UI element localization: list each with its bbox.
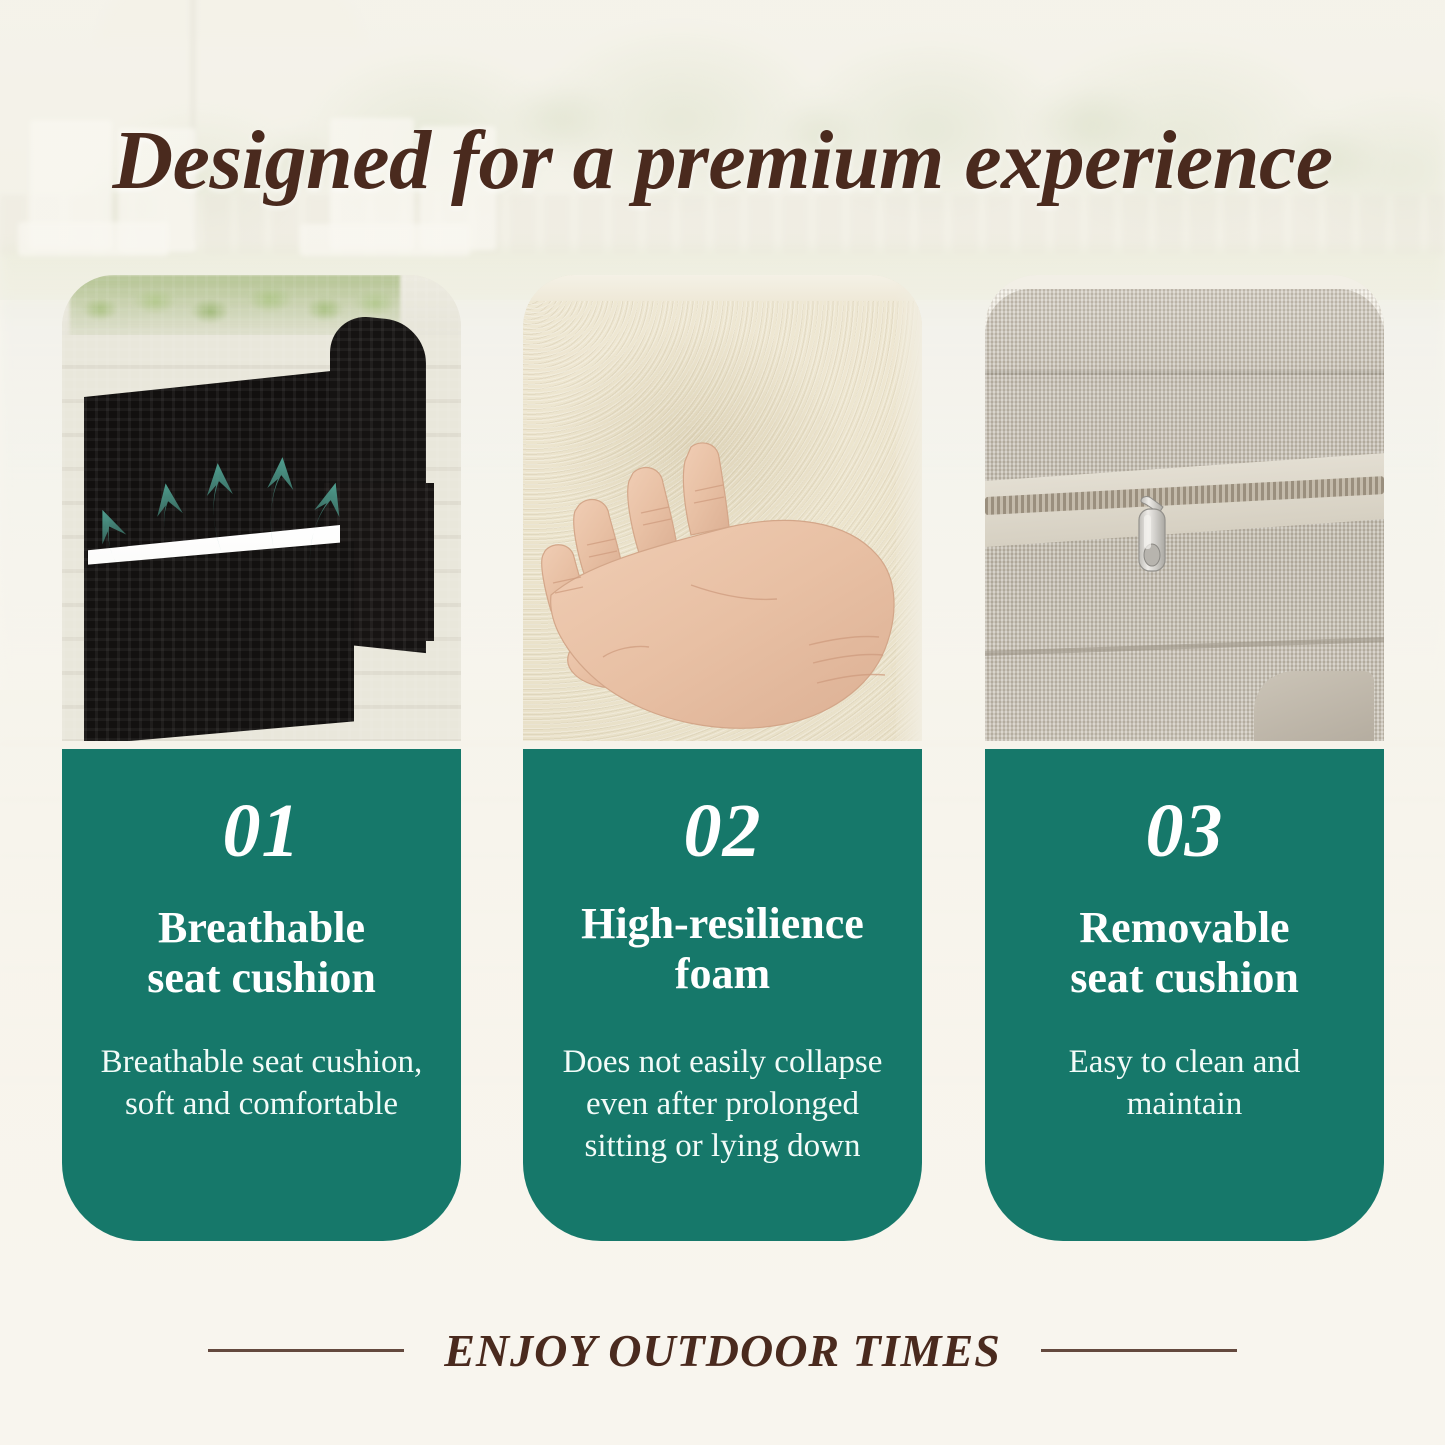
feature-photo-rattan-chair	[62, 275, 461, 741]
feature-title-line1: Breathable	[158, 903, 365, 952]
airflow-arrow-icon	[259, 456, 300, 558]
feature-title: Breathable seat cushion	[86, 903, 437, 1002]
feature-photo-zipper-cushion	[985, 275, 1384, 741]
feature-description: Breathable seat cushion, soft and comfor…	[86, 1042, 437, 1125]
zipper-pull-icon	[1133, 495, 1179, 583]
feature-desc-line1: Breathable seat cushion,	[101, 1044, 423, 1080]
feature-description: Easy to clean and maintain	[1009, 1042, 1360, 1125]
feature-title-line1: High-resilience	[581, 899, 864, 948]
photo3-cushion-corner-fold	[1254, 671, 1374, 741]
feature-desc-line3: sitting or lying down	[585, 1128, 861, 1164]
promo-image-root: Designed for a premium experience	[0, 0, 1445, 1445]
feature-title: High-resilience foam	[547, 899, 898, 998]
footer-rule-left	[208, 1349, 404, 1352]
feature-card-02: 02 High-resilience foam Does not easily …	[523, 275, 922, 1241]
feature-desc-line2: maintain	[1127, 1086, 1242, 1122]
feature-desc-line2: soft and comfortable	[125, 1086, 398, 1122]
feature-card-01: 01 Breathable seat cushion Breathable se…	[62, 275, 461, 1241]
footer-banner: ENJOY OUTDOOR TIMES	[0, 1315, 1445, 1385]
feature-title-line1: Removable	[1079, 903, 1289, 952]
feature-photo-foam-hand	[523, 275, 922, 741]
feature-panel-01: 01 Breathable seat cushion Breathable se…	[62, 749, 461, 1241]
feature-title-line2: seat cushion	[147, 953, 376, 1002]
airflow-arrow-icon	[201, 462, 242, 560]
photo2-top-edge	[523, 275, 922, 301]
feature-panel-03: 03 Removable seat cushion Easy to clean …	[985, 749, 1384, 1241]
feature-description: Does not easily collapse even after prol…	[547, 1042, 898, 1167]
feature-number: 03	[1009, 793, 1360, 869]
feature-number: 02	[547, 793, 898, 869]
feature-title-line2: foam	[675, 949, 770, 998]
feature-panel-02: 02 High-resilience foam Does not easily …	[523, 749, 922, 1241]
feature-title: Removable seat cushion	[1009, 903, 1360, 1002]
footer-tagline: ENJOY OUTDOOR TIMES	[444, 1324, 1001, 1377]
feature-card-03: 03 Removable seat cushion Easy to clean …	[985, 275, 1384, 1241]
feature-desc-line1: Easy to clean and	[1069, 1044, 1301, 1080]
feature-cards: 01 Breathable seat cushion Breathable se…	[0, 0, 1445, 1445]
feature-title-line2: seat cushion	[1070, 953, 1299, 1002]
footer-rule-right	[1041, 1349, 1237, 1352]
photo2-hand	[541, 395, 901, 741]
feature-desc-line2: even after prolonged	[586, 1086, 859, 1122]
feature-number: 01	[86, 793, 437, 869]
feature-desc-line1: Does not easily collapse	[563, 1044, 883, 1080]
